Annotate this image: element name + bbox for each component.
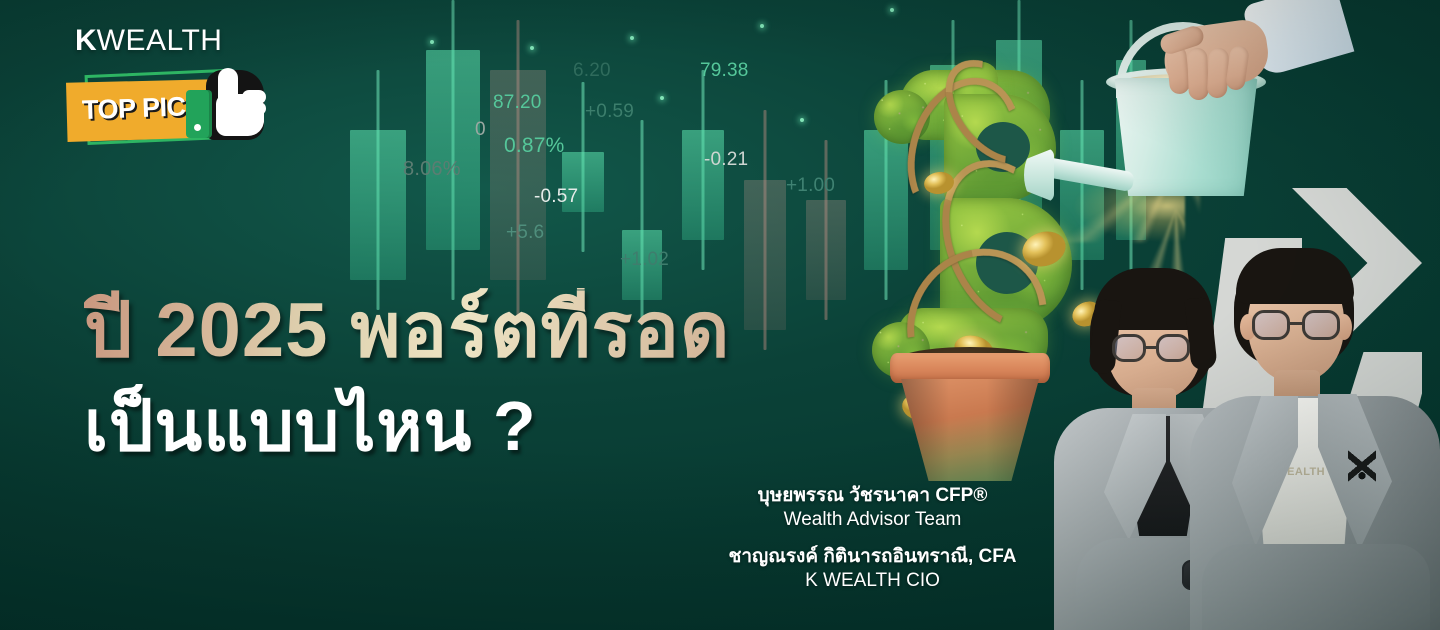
glasses-lens-left xyxy=(1252,310,1290,340)
sparkle-dot xyxy=(430,40,434,44)
glasses-bridge xyxy=(1290,322,1302,325)
candlestick-body xyxy=(426,50,480,250)
pot-rim xyxy=(890,353,1050,383)
chart-value-label: 0.87% xyxy=(504,134,565,158)
chart-value-label: +1.02 xyxy=(620,249,669,271)
credit-name: บุษยพรรณ วัชรนาคา CFP® xyxy=(700,484,1045,508)
top-pick-badge: TOP PICK xyxy=(62,66,262,166)
presenter-credits: บุษยพรรณ วัชรนาคา CFP®Wealth Advisor Tea… xyxy=(700,484,1045,593)
glasses-icon xyxy=(1112,334,1198,364)
thumbs-up-icon xyxy=(200,66,272,150)
chart-value-label: +5.6 xyxy=(506,222,544,244)
thumb-up-digit xyxy=(218,68,238,104)
logo-wordmark: KWEALTH xyxy=(75,24,222,58)
candlestick-body xyxy=(350,130,406,280)
presenter-man: KWEALTH xyxy=(1190,248,1440,630)
sparkle-dot xyxy=(630,36,634,40)
glasses-lens-right xyxy=(1156,334,1190,362)
mourning-ribbon-icon xyxy=(1348,444,1376,488)
headline-block: ปี 2025 พอร์ตที่รอด เป็นแบบไหน ? xyxy=(84,288,884,466)
thumb-knuckle xyxy=(244,114,264,127)
glasses-lens-left xyxy=(1112,334,1146,362)
sparkle-dot xyxy=(760,24,764,28)
chart-value-label: 8.06% xyxy=(403,158,461,181)
chart-value-label: 0 xyxy=(475,119,486,141)
headline-line-1: ปี 2025 พอร์ตที่รอด xyxy=(84,288,884,373)
headline-line-2: เป็นแบบไหน ? xyxy=(84,387,884,465)
logo-letter-k: K xyxy=(75,24,97,57)
credit-role: Wealth Advisor Team xyxy=(700,508,1045,532)
credit-name: ชาญณรงค์ กิตินารถอินทราณี, CFA xyxy=(700,545,1045,569)
chart-value-label: 79.38 xyxy=(700,60,749,82)
sparkle-dot xyxy=(890,8,894,12)
thumb-cuff xyxy=(186,90,212,138)
finger xyxy=(1187,48,1209,101)
credit-block: ชาญณรงค์ กิตินารถอินทราณี, CFAK WEALTH C… xyxy=(700,545,1045,594)
kwealth-top-pick-banner: 87.2008.06%6.2079.38+0.590.87%-0.21-0.57… xyxy=(0,0,1440,630)
man-hair-top xyxy=(1236,248,1354,304)
terracotta-pot xyxy=(890,353,1050,481)
pot-shading xyxy=(901,379,1039,481)
thumb-hand xyxy=(212,68,266,136)
credit-block: บุษยพรรณ วัชรนาคา CFP®Wealth Advisor Tea… xyxy=(700,484,1045,533)
chart-value-label: +0.59 xyxy=(585,101,634,123)
chart-value-label: 6.20 xyxy=(573,60,611,82)
glasses-bridge xyxy=(1146,346,1156,349)
kwealth-logo[interactable]: KWEALTH TOP PICK xyxy=(72,24,302,172)
chart-value-label: -0.57 xyxy=(534,186,578,208)
candlestick-body xyxy=(682,130,724,240)
logo-word-wealth: WEALTH xyxy=(97,24,223,57)
sparkle-dot xyxy=(660,96,664,100)
sparkle-dot xyxy=(530,46,534,50)
glasses-lens-right xyxy=(1302,310,1340,340)
hand-holding-can xyxy=(1154,0,1304,106)
chart-value-label: +1.00 xyxy=(786,175,835,197)
finger xyxy=(1207,48,1230,99)
presenters-photo: KWEALTH xyxy=(1040,248,1440,630)
watering-can-illustration xyxy=(1082,6,1382,236)
chart-value-label: -0.21 xyxy=(704,149,748,171)
man-folded-arms xyxy=(1202,544,1430,630)
chart-value-label: 87.20 xyxy=(493,92,542,114)
credit-role: K WEALTH CIO xyxy=(700,569,1045,593)
sparkle-dot xyxy=(800,118,804,122)
glasses-icon xyxy=(1252,310,1344,342)
